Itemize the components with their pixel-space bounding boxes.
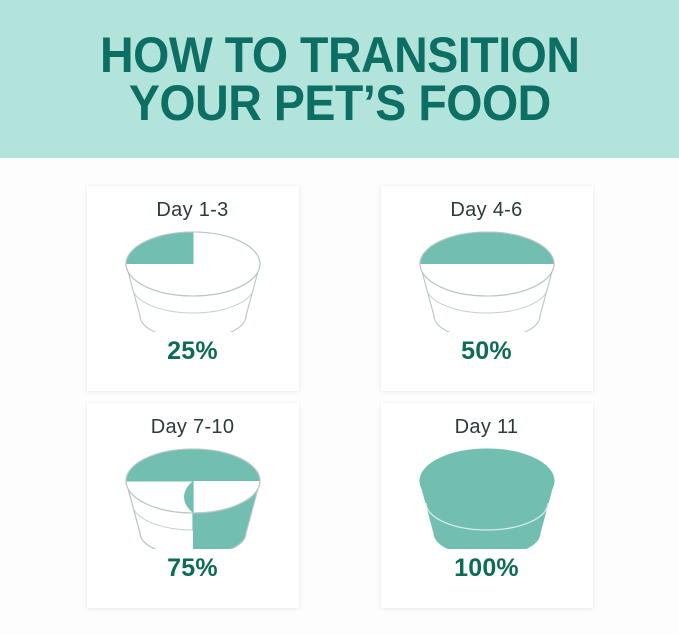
percent-label: 100% (454, 556, 519, 581)
step-card: Day 1-3 (87, 186, 299, 391)
page-title-line-2: YOUR PET’S FOOD (129, 79, 551, 128)
step-card: Day 11 100% (381, 403, 593, 608)
percent-label: 75% (167, 556, 218, 581)
pet-bowl-100-percent-icon (412, 441, 562, 549)
day-label: Day 11 (455, 417, 519, 437)
day-label: Day 4-6 (450, 200, 522, 220)
percent-label: 25% (167, 339, 218, 364)
day-label: Day 1-3 (156, 200, 228, 220)
pet-bowl-50-percent-icon (412, 224, 562, 332)
pet-bowl-25-percent-icon (118, 224, 268, 332)
step-card: Day 4-6 50% (381, 186, 593, 391)
step-card-grid: Day 1-3 (0, 158, 679, 635)
page-title-line-1: HOW TO TRANSITION (100, 31, 579, 80)
step-card: Day 7-10 (87, 403, 299, 608)
header-banner: HOW TO TRANSITION YOUR PET’S FOOD (0, 0, 679, 158)
pet-bowl-75-percent-icon (118, 441, 268, 549)
percent-label: 50% (461, 339, 512, 364)
transition-infographic: HOW TO TRANSITION YOUR PET’S FOOD Day 1-… (0, 0, 679, 635)
day-label: Day 7-10 (151, 417, 235, 437)
